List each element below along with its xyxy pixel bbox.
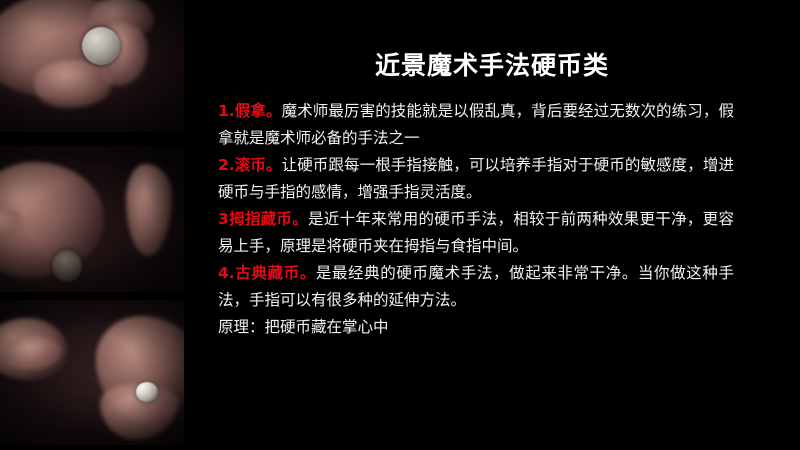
page-title: 近景魔术手法硬币类	[184, 50, 800, 82]
list-item-1-lead-punct: 。	[266, 102, 282, 120]
list-item-4-lead: 4.古典藏币	[218, 264, 300, 282]
photo-open-palm-with-dark-coin	[0, 146, 184, 292]
list-item-2-lead: 2.滚币	[218, 156, 266, 174]
list-item-1-body: 魔术师最厉害的技能就是以假乱真，背后要经过无数次的练习，假拿就是魔术师必备的手法…	[218, 102, 734, 147]
slide-root: 近景魔术手法硬币类 1.假拿。魔术师最厉害的技能就是以假乱真，背后要经过无数次的…	[0, 0, 800, 450]
photo-2-coin	[52, 250, 82, 282]
list-item-2-lead-punct: 。	[266, 156, 282, 174]
photo-hand-holding-silver-coin	[0, 0, 184, 132]
principle-line: 原理：把硬币藏在掌心中	[218, 314, 734, 341]
photo-two-hands-with-bright-coin	[0, 300, 184, 445]
body-text: 1.假拿。魔术师最厉害的技能就是以假乱真，背后要经过无数次的练习，假拿就是魔术师…	[218, 98, 734, 341]
list-item-3-lead: 3拇指藏币	[218, 210, 292, 228]
photo-3-coin	[136, 382, 158, 402]
list-item-4-lead-punct: 。	[300, 264, 316, 282]
content-column: 近景魔术手法硬币类 1.假拿。魔术师最厉害的技能就是以假乱真，背后要经过无数次的…	[184, 0, 800, 450]
photo-strip	[0, 0, 184, 450]
list-item-2-body: 让硬币跟每一根手指接触，可以培养手指对于硬币的敏感度，增进硬币与手指的感情，增强…	[218, 156, 734, 201]
list-item-1-lead: 1.假拿	[218, 102, 266, 120]
list-item-4: 4.古典藏币。是最经典的硬币魔术手法，做起来非常干净。当你做这种手法，手指可以有…	[218, 260, 734, 314]
list-item-2: 2.滚币。让硬币跟每一根手指接触，可以培养手指对于硬币的敏感度，增进硬币与手指的…	[218, 152, 734, 206]
list-item-3-lead-punct: 。	[292, 210, 308, 228]
list-item-1: 1.假拿。魔术师最厉害的技能就是以假乱真，背后要经过无数次的练习，假拿就是魔术师…	[218, 98, 734, 152]
list-item-3: 3拇指藏币。是近十年来常用的硬币手法，相较于前两种效果更干净，更容易上手，原理是…	[218, 206, 734, 260]
photo-1-coin	[82, 27, 120, 65]
